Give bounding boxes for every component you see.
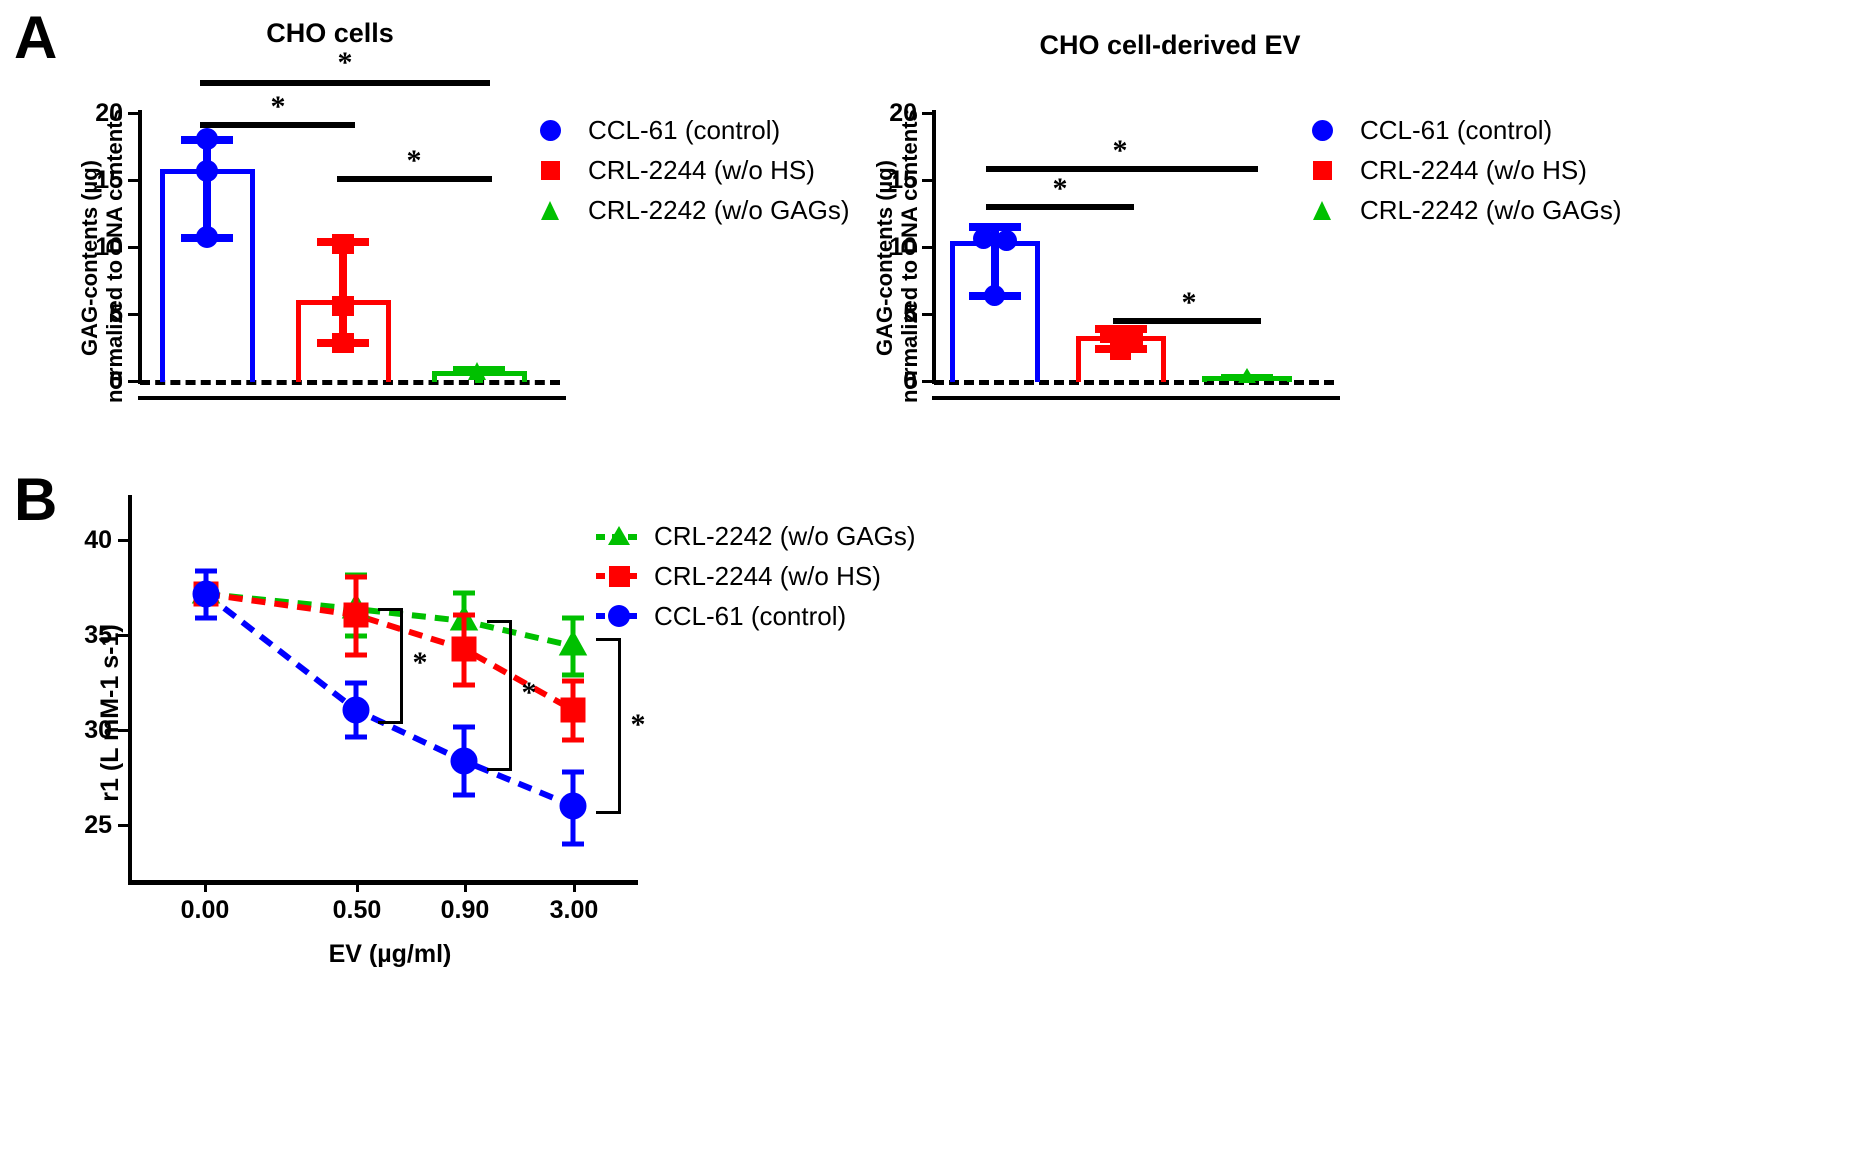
- y-tick-label-0-right: 0: [872, 367, 917, 396]
- legend-marker-circle-blue-dashed: [596, 601, 642, 631]
- legend-marker-square-red-dashed: [596, 561, 642, 591]
- significance-star-300-panelb: *: [618, 710, 658, 740]
- significance-star-ccl61-crl2244-right: *: [1040, 174, 1080, 204]
- y-tick-label-10-right: 10: [872, 233, 917, 262]
- y-tick-0-right: [922, 380, 932, 383]
- legend-label-ccl61-right: CCL-61 (control): [1348, 115, 1552, 146]
- y-tick-15-right: [922, 179, 932, 182]
- legend-item-ccl61-panelb[interactable]: CCL-61 (control): [596, 596, 916, 636]
- y-tick-10-right: [922, 246, 932, 249]
- legend-item-crl2244-right[interactable]: CRL-2244 (w/o HS): [1302, 150, 1622, 190]
- y-tick-5-right: [922, 313, 932, 316]
- data-point-ccl61-right: [973, 228, 994, 249]
- significance-star-crl2244-crl2242-right: *: [1169, 288, 1209, 318]
- legend-label-crl2242-panelb: CRL-2242 (w/o GAGs): [642, 521, 916, 552]
- legend-item-crl2244-panelb[interactable]: CRL-2244 (w/o HS): [596, 556, 916, 596]
- legend-item-crl2242-right[interactable]: CRL-2242 (w/o GAGs): [1302, 190, 1622, 230]
- y-axis-right: [932, 110, 936, 384]
- data-point-crl2242-right: [1238, 368, 1256, 383]
- significance-star-ccl61-crl2242-right: *: [1100, 136, 1140, 166]
- figure-root: A CHO cells GAG-contents (µg) normalized…: [0, 0, 1849, 1158]
- legend-panelb: CRL-2242 (w/o GAGs) CRL-2244 (w/o HS): [596, 516, 916, 636]
- legend-marker-triangle-green-dashed: [596, 521, 642, 551]
- legend-item-ccl61-right[interactable]: CCL-61 (control): [1302, 110, 1622, 150]
- legend-marker-triangle-green: [1302, 195, 1348, 225]
- data-point-ccl61-right: [996, 230, 1017, 251]
- y-tick-label-5-right: 5: [872, 300, 917, 329]
- data-point-crl2244-right: [1110, 342, 1131, 360]
- chart-title-cho-ev: CHO cell-derived EV: [955, 30, 1385, 61]
- data-point-crl2244-right: [1100, 325, 1121, 343]
- legend-label-crl2242-right: CRL-2242 (w/o GAGs): [1348, 195, 1622, 226]
- legend-label-crl2244-panelb: CRL-2244 (w/o HS): [642, 561, 881, 592]
- significance-star-090-panelb: *: [509, 678, 549, 708]
- data-point-ccl61-right: [984, 285, 1005, 306]
- x-axis-right: [932, 396, 1340, 400]
- y-tick-label-15-right: 15: [872, 166, 917, 195]
- legend-marker-square-red: [1302, 155, 1348, 185]
- significance-star-050-panelb: *: [400, 648, 440, 678]
- legend-cho-cell-derived-ev: CCL-61 (control) CRL-2244 (w/o HS) CRL-2…: [1302, 110, 1622, 230]
- legend-label-ccl61-panelb: CCL-61 (control): [642, 601, 846, 632]
- y-tick-20-right: [922, 112, 932, 115]
- legend-marker-circle-blue: [1302, 115, 1348, 145]
- legend-item-crl2242-panelb[interactable]: CRL-2242 (w/o GAGs): [596, 516, 916, 556]
- legend-label-crl2244-right: CRL-2244 (w/o HS): [1348, 155, 1587, 186]
- series-markers-panelb: [0, 0, 700, 950]
- y-tick-label-20-right: 20: [872, 99, 917, 128]
